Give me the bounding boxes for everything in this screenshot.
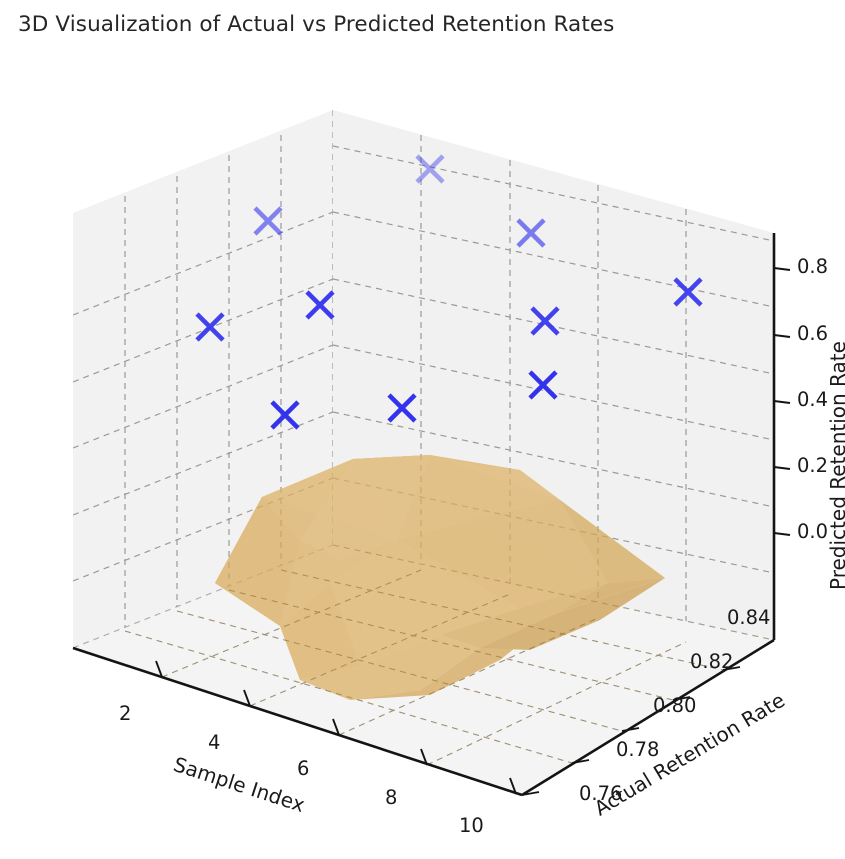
y-tick-label: 0.82	[690, 650, 733, 673]
z-tick-label: 0.0	[797, 520, 828, 543]
x-tick-label: 2	[119, 702, 131, 725]
x-tick-label: 10	[459, 814, 484, 837]
z-tick-label: 0.4	[797, 388, 828, 411]
z-axis-ticks	[774, 268, 790, 535]
x-tick-label: 6	[297, 757, 309, 780]
y-tick-label: 0.84	[727, 606, 770, 629]
x-tick-label: 4	[208, 731, 220, 754]
z-tick-label: 0.2	[797, 454, 828, 477]
figure-canvas: 3D Visualization of Actual vs Predicted …	[0, 0, 845, 859]
y-tick-label: 0.80	[653, 694, 696, 717]
x-tick-label: 8	[385, 786, 397, 809]
z-tick-label: 0.6	[797, 322, 828, 345]
z-axis-label: Predicted Retention Rate	[826, 341, 845, 590]
z-tick-label: 0.8	[797, 255, 828, 278]
y-tick-label: 0.78	[616, 738, 659, 761]
